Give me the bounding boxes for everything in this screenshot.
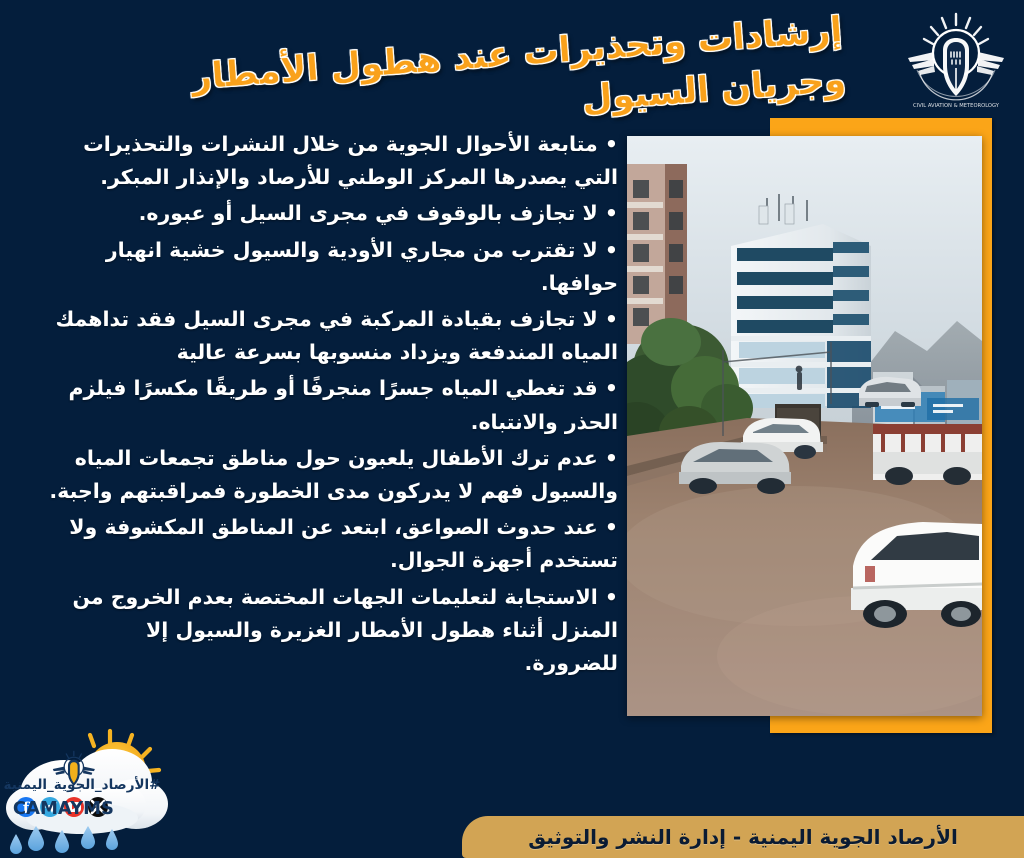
list-item: • عند حدوث الصواعق، ابتعد عن المناطق الم… bbox=[48, 511, 618, 577]
bullet-dot: • bbox=[605, 307, 618, 331]
list-item: • لا تجازف بالوقوف في مجرى السيل أو عبور… bbox=[48, 197, 618, 230]
list-item-text: قد تغطي المياه جسرًا منجرفًا أو طريقًا م… bbox=[68, 376, 618, 433]
advice-list: • متابعة الأحوال الجوية من خلال النشرات … bbox=[48, 128, 618, 683]
bullet-dot: • bbox=[605, 515, 618, 539]
list-item: • عدم ترك الأطفال يلعبون حول مناطق تجمعا… bbox=[48, 442, 618, 508]
brand-cloud-logo: #الأرصاد_الجوية_اليمنية f bbox=[4, 726, 272, 854]
flooded-street-photo bbox=[627, 136, 982, 716]
list-item: • متابعة الأحوال الجوية من خلال النشرات … bbox=[48, 128, 618, 194]
bullet-dot: • bbox=[605, 585, 618, 609]
brand-handle: CAMAYMS bbox=[13, 798, 114, 819]
list-item-text: عند حدوث الصواعق، ابتعد عن المناطق المكش… bbox=[69, 515, 618, 572]
list-item-text: الاستجابة لتعليمات الجهات المختصة بعدم ا… bbox=[72, 585, 618, 675]
list-item-text: لا تجازف بالوقوف في مجرى السيل أو عبوره. bbox=[139, 201, 598, 225]
list-item-text: لا تقترب من مجاري الأودية والسيول خشية ا… bbox=[106, 238, 618, 295]
list-item: • لا تقترب من مجاري الأودية والسيول خشية… bbox=[48, 234, 618, 300]
footer-bar: الأرصاد الجوية اليمنية - إدارة النشر وال… bbox=[462, 816, 1024, 858]
bullet-dot: • bbox=[605, 376, 618, 400]
social-icons-row: f CAMAYMS bbox=[13, 797, 114, 819]
infographic-poster: إرشادات وتحذيرات عند هطول الأمطار وجريان… bbox=[0, 0, 1024, 858]
list-item-text: متابعة الأحوال الجوية من خلال النشرات وا… bbox=[83, 132, 618, 189]
bullet-dot: • bbox=[605, 132, 618, 156]
list-item: • الاستجابة لتعليمات الجهات المختصة بعدم… bbox=[48, 581, 618, 681]
header: إرشادات وتحذيرات عند هطول الأمطار وجريان… bbox=[0, 0, 1024, 118]
list-item-text: عدم ترك الأطفال يلعبون حول مناطق تجمعات … bbox=[49, 446, 618, 503]
list-item: • قد تغطي المياه جسرًا منجرفًا أو طريقًا… bbox=[48, 372, 618, 438]
svg-text:CIVIL AVIATION & METEOROLOGY: CIVIL AVIATION & METEOROLOGY bbox=[913, 103, 1000, 109]
brand-hashtag: #الأرصاد_الجوية_اليمنية bbox=[4, 776, 160, 793]
bullet-dot: • bbox=[605, 446, 618, 470]
bullet-dot: • bbox=[605, 201, 618, 225]
bullet-dot: • bbox=[605, 238, 618, 262]
list-item-text: لا تجازف بقيادة المركبة في مجرى السيل فق… bbox=[55, 307, 618, 364]
list-item: • لا تجازف بقيادة المركبة في مجرى السيل … bbox=[48, 303, 618, 369]
footer-text: الأرصاد الجوية اليمنية - إدارة النشر وال… bbox=[462, 816, 1024, 858]
civil-aviation-meteorology-authority-logo: CIVIL AVIATION & METEOROLOGY bbox=[904, 8, 1008, 110]
